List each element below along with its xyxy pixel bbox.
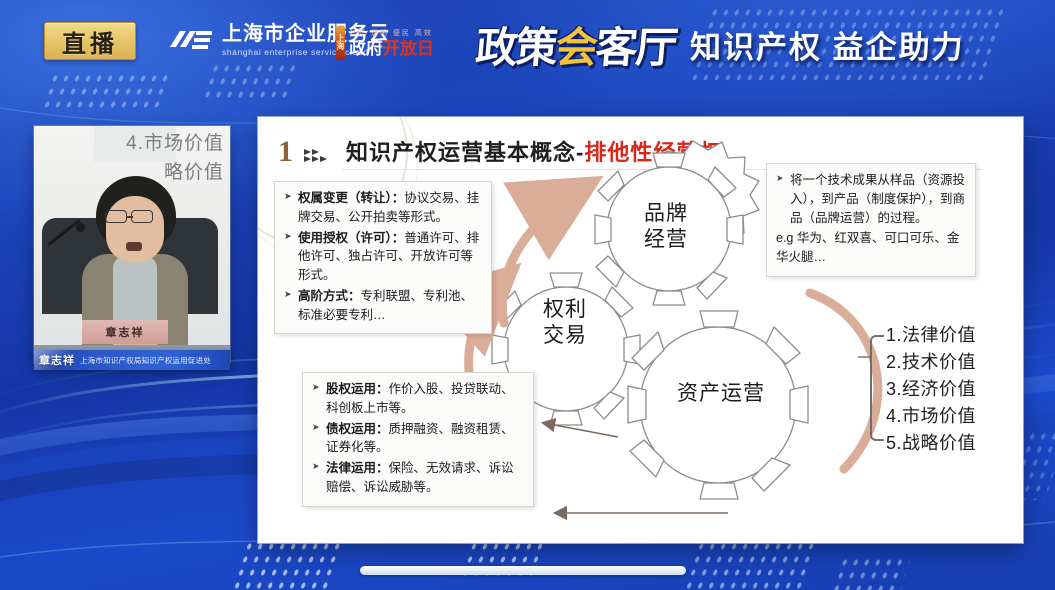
list-item: 股权运用：作价入股、投贷联动、科创板上市等。 [312, 380, 524, 418]
item-bold: 使用授权（许可）： [298, 231, 404, 245]
program-logo-suffix: 客厅 [594, 24, 678, 71]
item-bold: 高阶方式： [298, 289, 361, 303]
slide-decor-triangles-icon [302, 147, 328, 165]
gear-rights-line1: 权利 [520, 297, 610, 323]
gear-brand-line2: 经营 [616, 227, 716, 253]
arrow-curve-right [810, 293, 878, 469]
item-bold: 法律运用： [326, 461, 389, 475]
list-item: 将一个技术成果从样品（资源投入），到产品（制度保护），到商品（品牌运营）的过程。 [776, 171, 966, 227]
slide-title: 知识产权运营基本概念-排他性经营权 [346, 135, 722, 167]
speaker-mouth [126, 242, 142, 251]
gov-logo-subtitle: 公开 透明 便民 高效 [349, 30, 434, 37]
gear-label-rights-trading: 权利 交易 [520, 297, 610, 350]
value-list-item: 1.法律价值 [886, 322, 976, 349]
microphone-head-icon [76, 223, 85, 232]
item-example-text: e.g 华为、红双喜、可口可乐、金华火腿… [776, 231, 959, 264]
eyeglass-bridge [127, 216, 133, 218]
government-open-day-logo: 上海 公开 透明 便民 高效 政府开放日 [336, 20, 434, 66]
list-item: 法律运用：保险、无效请求、诉讼赔偿、诉讼威胁等。 [312, 459, 524, 497]
list-item: 使用授权（许可）：普通许可、排他许可、独占许可、开放许可等形式。 [284, 229, 482, 285]
program-logo-accent: 会 [554, 24, 598, 71]
item-bold: 股权运用： [326, 382, 389, 396]
gear-label-brand-operation: 品牌 经营 [616, 201, 716, 254]
broadcast-header: 直播 上海市企业服务云 shanghai enterprise service … [0, 0, 1055, 92]
gear-rights-line2: 交易 [520, 323, 610, 349]
asset-usage-box: 股权运用：作价入股、投贷联动、科创板上市等。 债权运用：质押融资、融资租赁、证券… [302, 372, 534, 507]
arrow-to-rights-box [544, 423, 618, 437]
program-logo-prefix: 政策 [474, 24, 558, 71]
speaker-video-feed[interactable]: 4.市场价值 略价值 章志祥 [34, 126, 230, 363]
live-badge: 直播 [44, 22, 136, 60]
eyeglass-right-icon [131, 210, 153, 223]
brand-process-box: 将一个技术成果从样品（资源投入），到产品（制度保护），到商品（品牌运营）的过程。… [766, 163, 976, 277]
item-bold: 权属变更（转让）： [298, 191, 404, 205]
list-item-example: e.g 华为、红双喜、可口可乐、金华火腿… [776, 229, 966, 267]
gov-logo-title: 政府开放日 [349, 40, 434, 57]
speaker-title: 上海市知识产权局知识产权运用促进处 [80, 355, 211, 366]
shanghai-cloud-mark-icon [168, 25, 214, 55]
item-text: 将一个技术成果从样品（资源投入），到产品（制度保护），到商品（品牌运营）的过程。 [790, 173, 965, 225]
value-list-item: 5.战略价值 [886, 430, 976, 457]
desk-nameplate: 章志祥 [82, 320, 168, 344]
value-list: 1.法律价值 2.技术价值 3.经济价值 4.市场价值 5.战略价值 [886, 322, 976, 457]
slide-title-main: 知识产权运营基本概念- [346, 140, 584, 165]
speaker-face [106, 196, 164, 262]
list-item: 债权运用：质押融资、融资租赁、证券化等。 [312, 420, 524, 458]
speaker-lower-third: 章志祥 上海市知识产权局知识产权运用促进处 [34, 350, 230, 370]
value-list-item: 2.技术价值 [886, 349, 976, 376]
broadcast-stage: 直播 上海市企业服务云 shanghai enterprise service … [0, 0, 1055, 590]
value-list-item: 4.市场价值 [886, 403, 976, 430]
list-item: 权属变更（转让）：协议交易、挂牌交易、公开拍卖等形式。 [284, 189, 482, 227]
slide-title-highlight: 排他性经营权 [584, 140, 722, 165]
eyeglass-left-icon [105, 210, 127, 223]
list-item: 高阶方式：专利联盟、专利池、标准必要专利… [284, 287, 482, 325]
value-list-bracket [870, 335, 884, 441]
program-tagline: 知识产权 益企助力 [690, 22, 965, 67]
gear-label-asset-operation: 资产运营 [656, 381, 786, 407]
video-slide-line1: 4.市场价值 [126, 130, 224, 159]
value-list-item: 3.经济价值 [886, 376, 976, 403]
program-logo: 政策会客厅 [473, 14, 678, 75]
player-progress-bar[interactable] [360, 566, 686, 575]
rights-methods-box: 权属变更（转让）：协议交易、挂牌交易、公开拍卖等形式。 使用授权（许可）：普通许… [274, 181, 492, 334]
gov-seal-icon: 上海 [336, 26, 345, 60]
item-bold: 债权运用： [326, 422, 389, 436]
slide-number: 1 [278, 135, 293, 169]
presentation-slide[interactable]: 1 知识产权运营基本概念-排他性经营权 [258, 117, 1023, 543]
gear-brand-line1: 品牌 [616, 201, 716, 227]
speaker-name: 章志祥 [39, 352, 75, 368]
